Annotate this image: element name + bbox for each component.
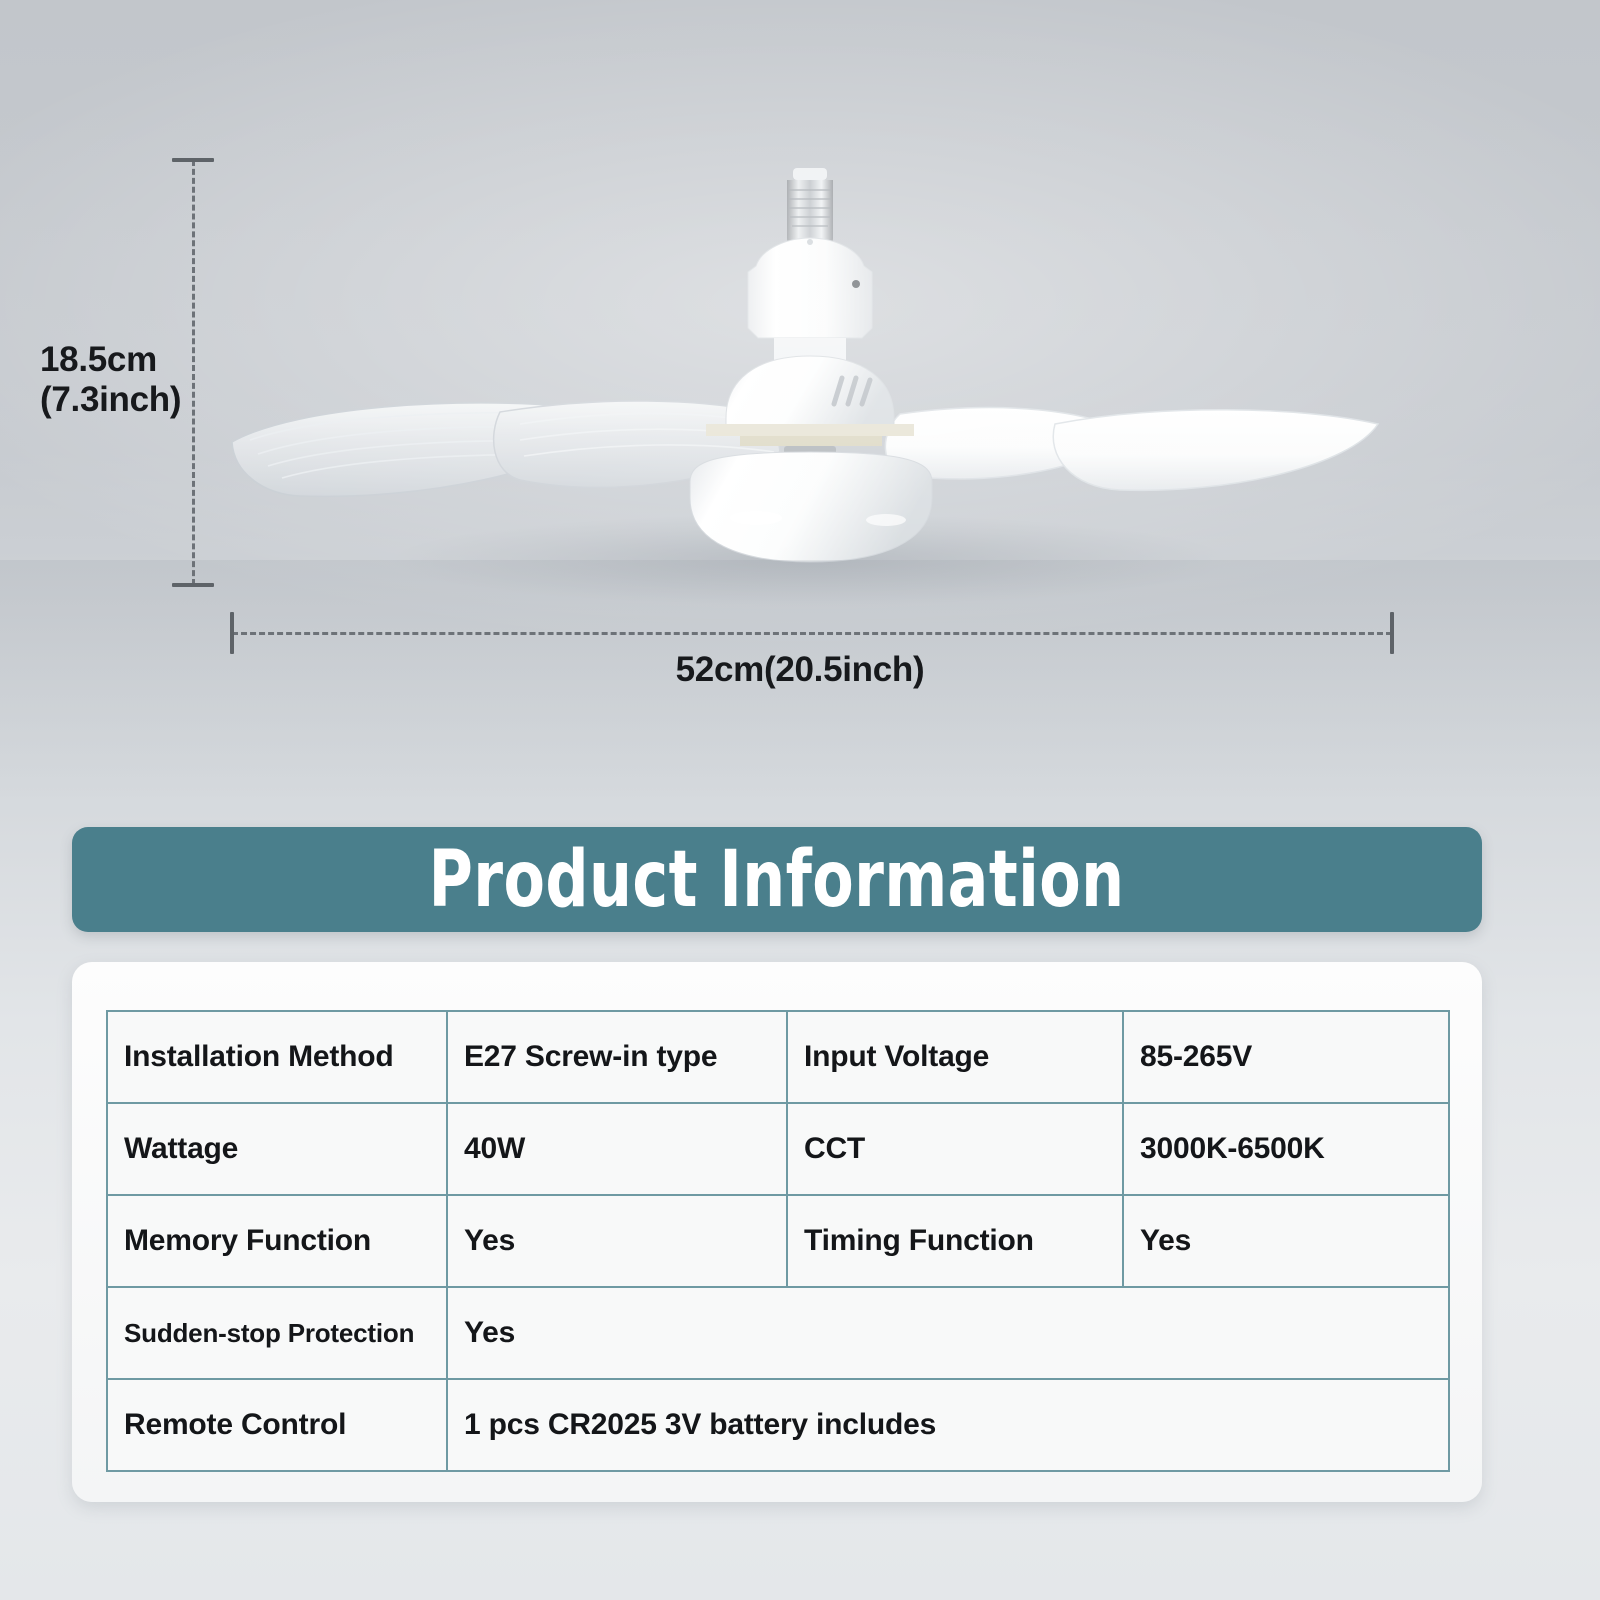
spec-value: 3000K-6500K <box>1123 1103 1449 1195</box>
table-row: Installation Method E27 Screw-in type In… <box>107 1011 1449 1103</box>
specification-card: Installation Method E27 Screw-in type In… <box>72 962 1482 1502</box>
spec-label: Installation Method <box>107 1011 447 1103</box>
spec-label: Wattage <box>107 1103 447 1195</box>
height-value-cm: 18.5cm <box>40 340 220 380</box>
table-row: Wattage 40W CCT 3000K-6500K <box>107 1103 1449 1195</box>
spec-label: Sudden-stop Protection <box>107 1287 447 1379</box>
product-information-banner: Product Information <box>72 827 1482 932</box>
spec-value: E27 Screw-in type <box>447 1011 787 1103</box>
spec-label: CCT <box>787 1103 1123 1195</box>
height-value-inch: (7.3inch) <box>40 380 220 420</box>
height-cap-bottom <box>172 583 214 587</box>
table-row: Sudden-stop Protection Yes <box>107 1287 1449 1379</box>
spec-label: Memory Function <box>107 1195 447 1287</box>
spec-value: 1 pcs CR2025 3V battery includes <box>447 1379 1449 1471</box>
specification-table: Installation Method E27 Screw-in type In… <box>106 1010 1450 1472</box>
spec-value: Yes <box>1123 1195 1449 1287</box>
spec-value: Yes <box>447 1287 1449 1379</box>
spec-value: Yes <box>447 1195 787 1287</box>
table-row: Memory Function Yes Timing Function Yes <box>107 1195 1449 1287</box>
spec-label: Timing Function <box>787 1195 1123 1287</box>
width-dimension-line <box>232 632 1392 635</box>
spec-value: 40W <box>447 1103 787 1195</box>
spec-value: 85-265V <box>1123 1011 1449 1103</box>
width-dimension-label: 52cm(20.5inch) <box>0 650 1600 690</box>
spec-label: Remote Control <box>107 1379 447 1471</box>
spec-label: Input Voltage <box>787 1011 1123 1103</box>
height-dimension-label: 18.5cm (7.3inch) <box>40 340 220 421</box>
width-cap-right <box>1390 612 1394 654</box>
page-title: Product Information <box>429 841 1125 919</box>
table-row: Remote Control 1 pcs CR2025 3V battery i… <box>107 1379 1449 1471</box>
product-photo: 18.5cm (7.3inch) 52cm(20.5inch) <box>0 0 1600 800</box>
height-cap-top <box>172 158 214 162</box>
width-cap-left <box>230 612 234 654</box>
